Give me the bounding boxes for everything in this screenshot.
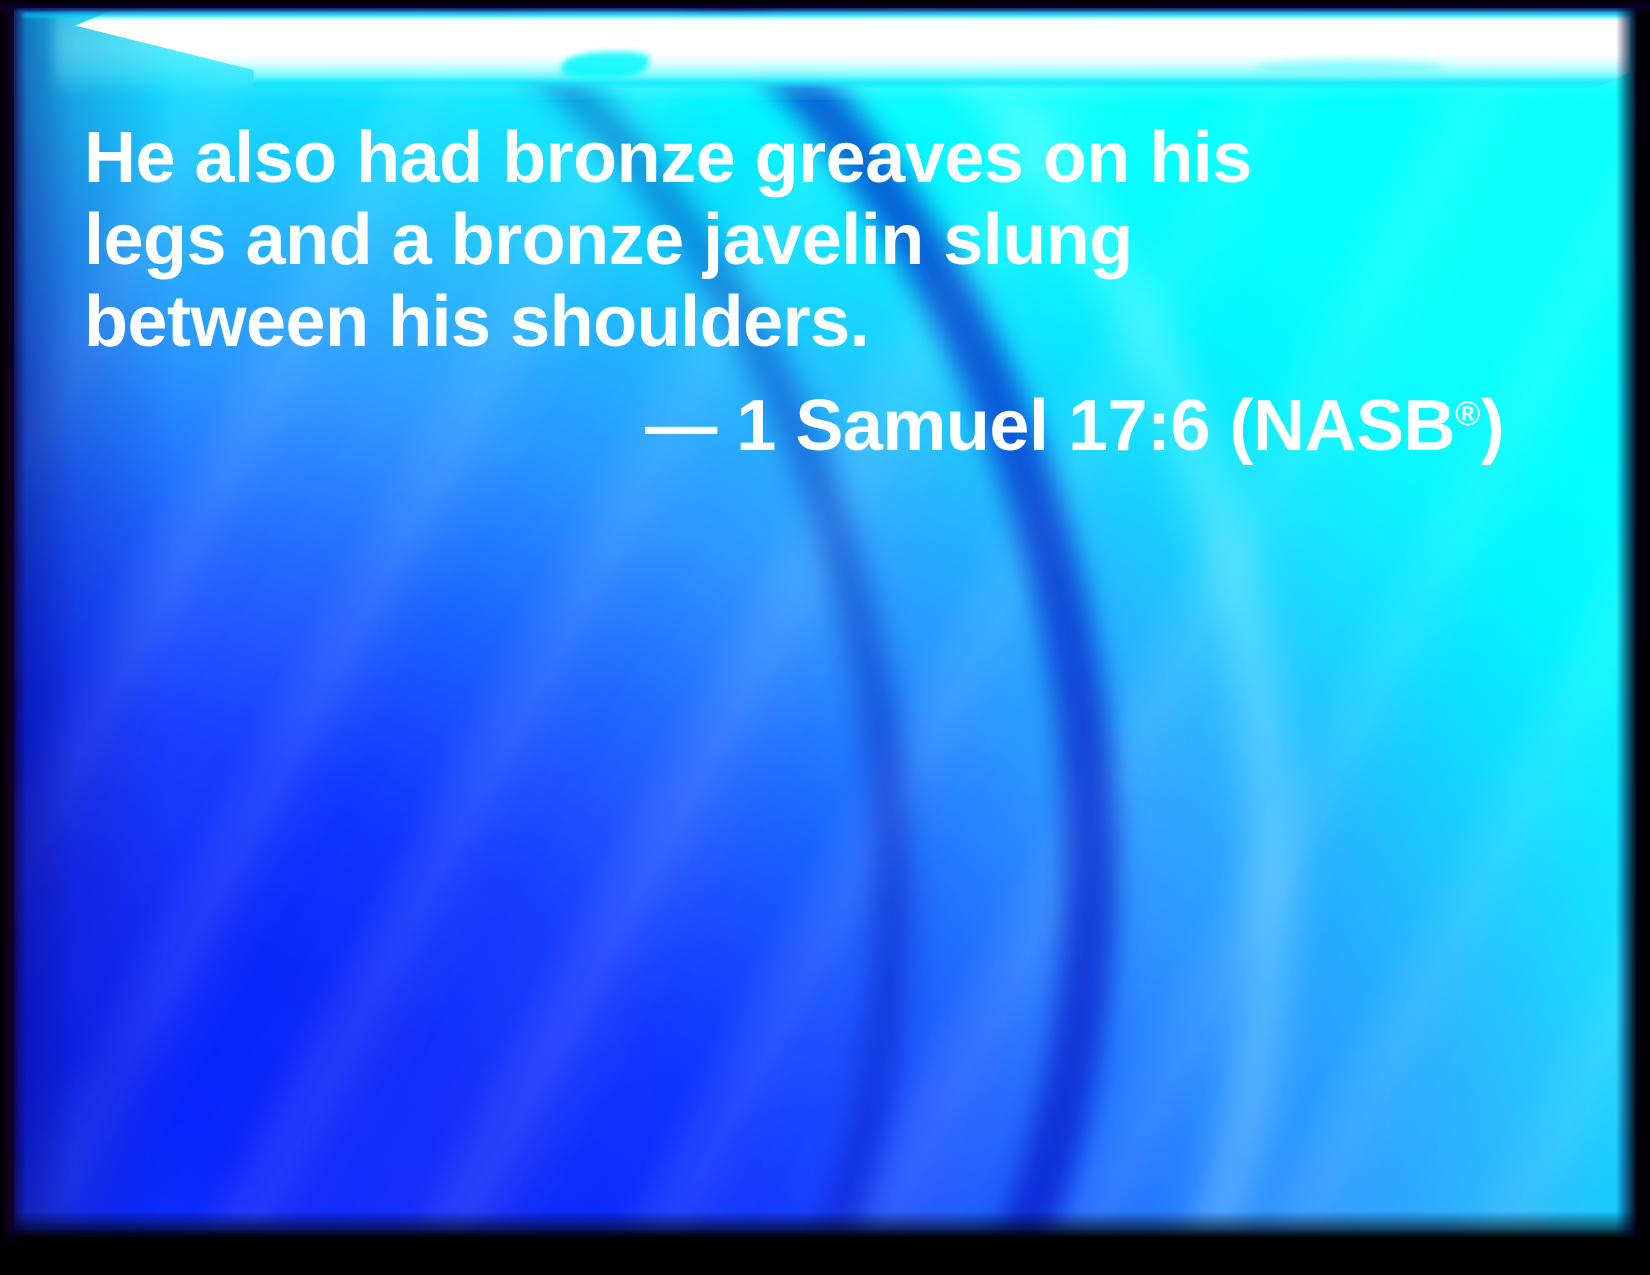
frame-edge-bottom (0, 1229, 1650, 1275)
frame-edge-left (0, 0, 26, 1275)
background-left-shading (14, 8, 174, 1237)
frame-edge-right (1616, 0, 1650, 1275)
slide-frame: He also had bronze greaves on his legs a… (0, 0, 1650, 1275)
slide-background-artwork (14, 8, 1636, 1237)
frame-edge-top (0, 0, 1650, 12)
